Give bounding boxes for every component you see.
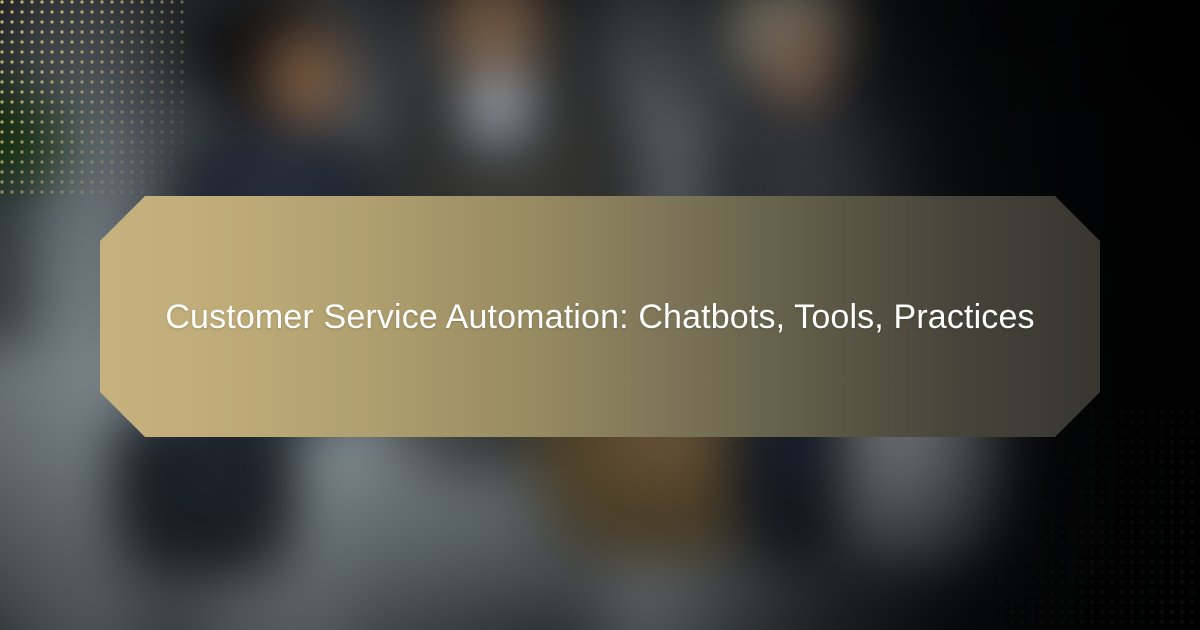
person-one-face <box>262 18 350 128</box>
person-three-face <box>765 20 837 108</box>
potted-plant-pot <box>0 178 30 343</box>
og-image-canvas: Customer Service Automation: Chatbots, T… <box>0 0 1200 630</box>
page-title: Customer Service Automation: Chatbots, T… <box>164 291 1036 343</box>
title-banner: Customer Service Automation: Chatbots, T… <box>100 196 1100 437</box>
